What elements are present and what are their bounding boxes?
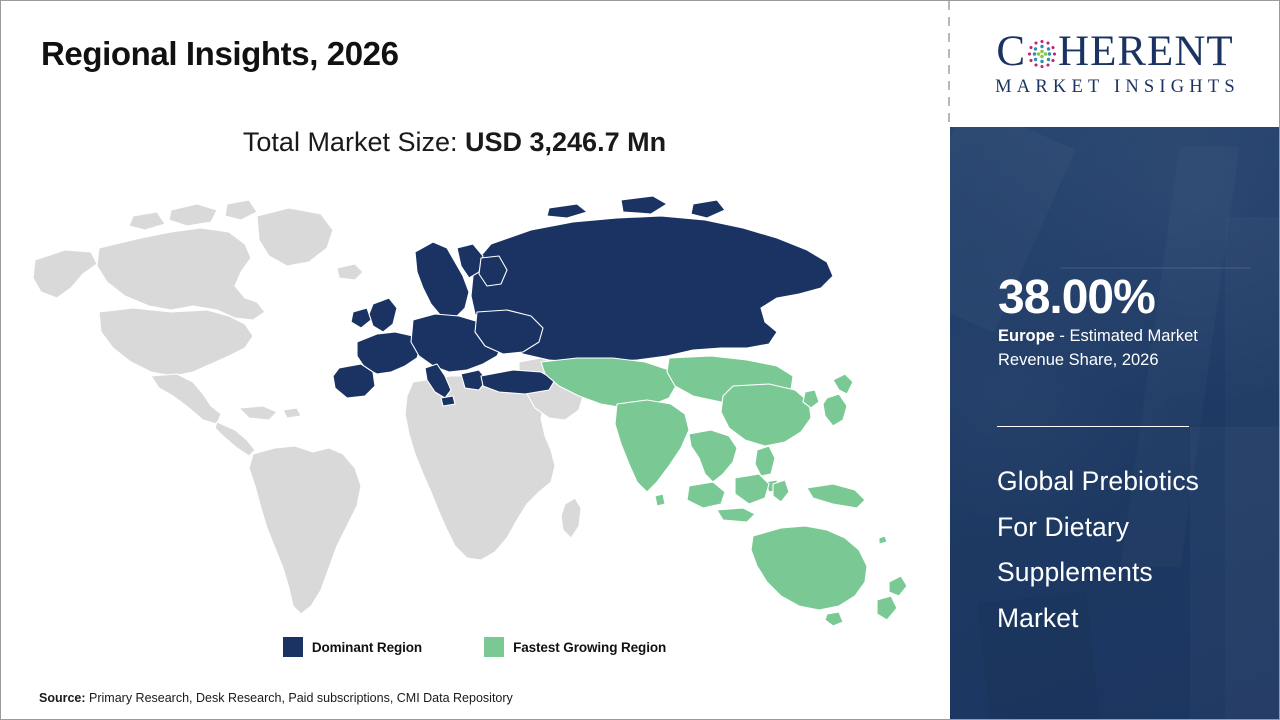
square-swatch-icon [283, 637, 303, 657]
brand-logo[interactable]: C [950, 1, 1280, 127]
world-map-container [21, 186, 921, 626]
right-sidebar: C [950, 1, 1280, 719]
stat-panel: 38.00% Europe - Estimated Market Revenue… [950, 127, 1280, 719]
legend-label-dominant: Dominant Region [312, 640, 422, 655]
legend-item-dominant: Dominant Region [283, 637, 422, 657]
source-text: Primary Research, Desk Research, Paid su… [86, 691, 513, 705]
legend-label-fastest-growing: Fastest Growing Region [513, 640, 666, 655]
source-note: Source: Primary Research, Desk Research,… [39, 691, 513, 705]
map-region-fastest-growing [541, 356, 907, 626]
revenue-share-description: Europe - Estimated Market Revenue Share,… [998, 325, 1250, 373]
logo-subtitle: MARKET INSIGHTS [990, 77, 1240, 98]
logo-word-right: HERENT [1058, 30, 1234, 73]
square-swatch-icon [484, 637, 504, 657]
background-texture-shape [1060, 267, 1250, 269]
total-market-size: Total Market Size: USD 3,246.7 Mn [1, 127, 908, 158]
source-label: Source: [39, 691, 86, 705]
world-map-svg [21, 186, 921, 626]
panel-divider [997, 426, 1189, 427]
map-legend: Dominant Region Fastest Growing Region [1, 637, 948, 657]
logo-wordmark: C [996, 30, 1233, 73]
page-title: Regional Insights, 2026 [41, 35, 399, 73]
left-content-panel: Regional Insights, 2026 Total Market Siz… [1, 1, 948, 719]
revenue-share-percent: 38.00% [998, 274, 1155, 322]
legend-item-fastest-growing: Fastest Growing Region [484, 637, 666, 657]
market-name: Global Prebiotics For Dietary Supplement… [997, 459, 1237, 641]
total-market-size-label: Total Market Size: [243, 127, 458, 157]
dotted-globe-icon [1027, 39, 1057, 69]
infographic-slide: Regional Insights, 2026 Total Market Siz… [0, 0, 1280, 720]
total-market-size-value: USD 3,246.7 Mn [465, 127, 666, 157]
revenue-share-region: Europe [998, 327, 1055, 345]
logo-word-left: C [996, 30, 1026, 73]
